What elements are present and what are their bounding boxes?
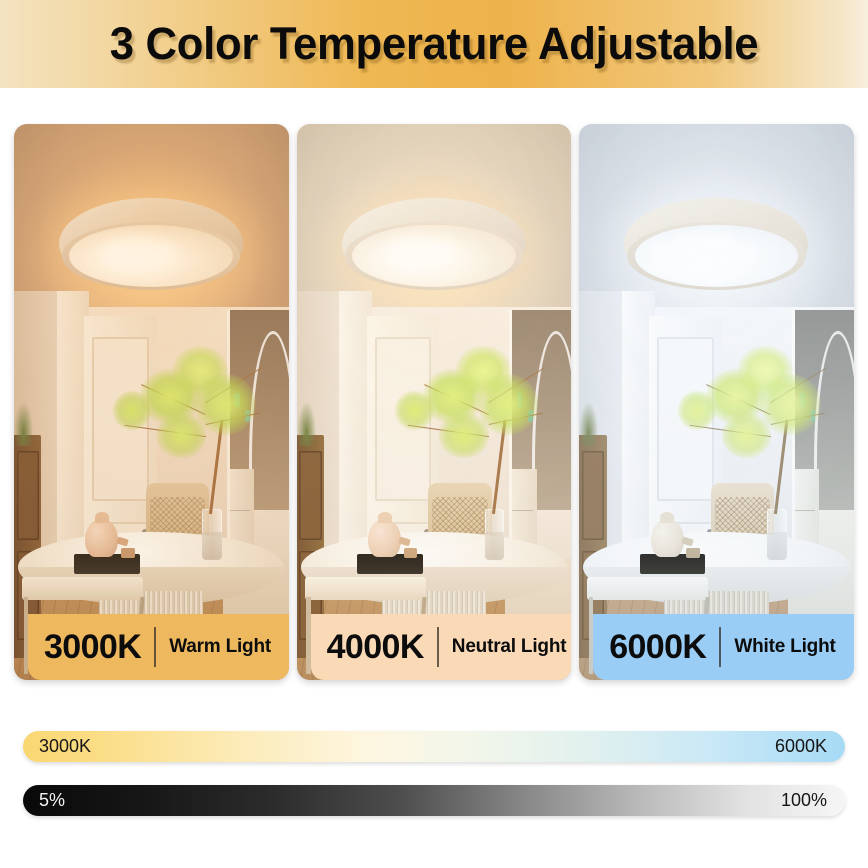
kelvin-value: 6000K <box>609 628 706 667</box>
dimming-max-label: 100% <box>781 790 845 811</box>
foliage <box>439 413 488 457</box>
cct-max-label: 6000K <box>775 736 845 757</box>
room-scene-warm <box>14 124 289 680</box>
light-name: White Light <box>734 636 835 658</box>
bench <box>305 577 426 600</box>
label-4000k: 4000K Neutral Light <box>311 614 572 680</box>
glass-vase <box>202 509 222 561</box>
panel-6000k[interactable]: 6000K White Light <box>579 124 854 680</box>
ceiling-lamp-icon <box>59 197 243 289</box>
foliage <box>760 374 820 435</box>
cct-min-label: 3000K <box>23 736 91 757</box>
page-title: 3 Color Temperature Adjustable <box>13 0 855 88</box>
header-banner: 3 Color Temperature Adjustable <box>0 0 868 88</box>
panel-3000k[interactable]: 3000K Warm Light <box>14 124 289 680</box>
plant-icon <box>579 402 598 446</box>
label-divider <box>154 627 156 667</box>
foliage <box>395 391 433 430</box>
ceiling-lamp-icon <box>625 197 809 289</box>
label-3000k: 3000K Warm Light <box>28 614 289 680</box>
teapot <box>85 520 118 557</box>
teapot-lid <box>378 512 392 523</box>
label-divider <box>437 627 439 667</box>
ceiling-lamp-icon <box>342 197 526 289</box>
color-temperature-slider[interactable]: 3000K 6000K <box>23 731 845 762</box>
glass-vase <box>485 509 505 561</box>
kelvin-value: 3000K <box>44 628 141 667</box>
foliage <box>678 391 716 430</box>
teapot-lid <box>660 512 674 523</box>
label-divider <box>719 627 721 667</box>
teapot-lid <box>95 512 109 523</box>
panel-4000k[interactable]: 4000K Neutral Light <box>297 124 572 680</box>
plant-icon <box>297 402 316 446</box>
bench <box>22 577 143 600</box>
tea-cup <box>686 548 700 558</box>
light-name: Neutral Light <box>452 636 567 658</box>
teapot <box>651 520 684 557</box>
dimming-min-label: 5% <box>23 790 65 811</box>
dimming-slider[interactable]: 5% 100% <box>23 785 845 816</box>
tea-cup <box>121 548 135 558</box>
glass-vase <box>767 509 787 561</box>
foliage <box>113 391 151 430</box>
foliage <box>157 413 206 457</box>
kelvin-value: 4000K <box>327 628 424 667</box>
plant-icon <box>14 402 33 446</box>
light-name: Warm Light <box>169 636 271 658</box>
foliage <box>722 413 771 457</box>
room-scene-neutral <box>297 124 572 680</box>
label-6000k: 6000K White Light <box>593 614 854 680</box>
teapot <box>368 520 401 557</box>
tea-cup <box>404 548 418 558</box>
color-temperature-panel-row: 3000K Warm Light <box>14 124 854 680</box>
bench <box>587 577 708 600</box>
room-scene-white <box>579 124 854 680</box>
